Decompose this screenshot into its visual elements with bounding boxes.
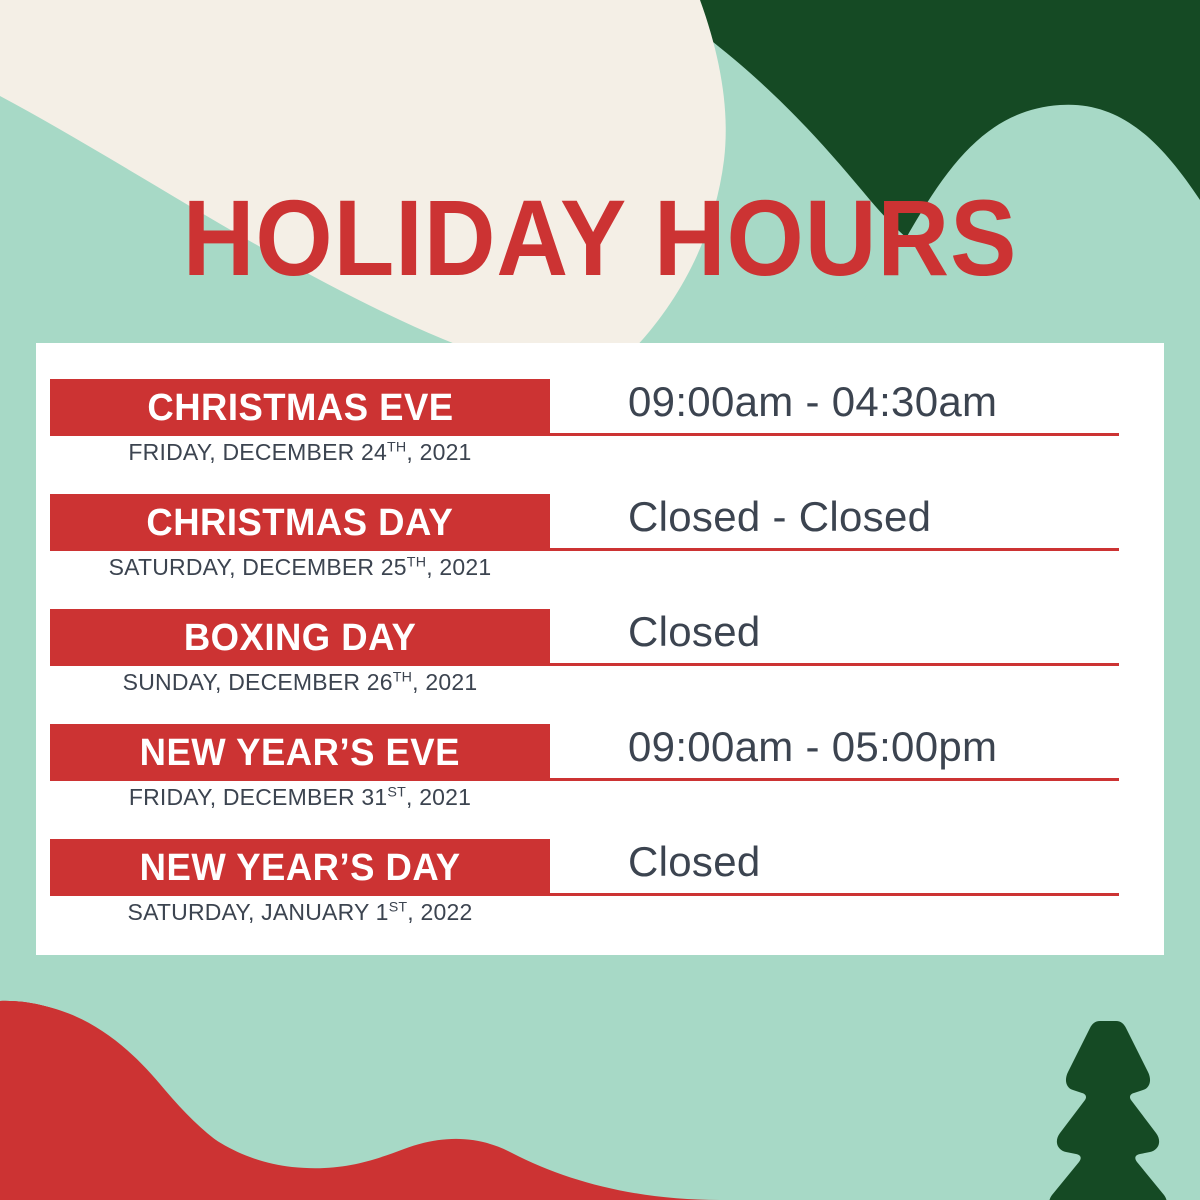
holiday-date-label: SATURDAY, JANUARY 1ST, 2022 xyxy=(50,896,550,928)
holiday-hours-value: 09:00am - 05:00pm xyxy=(628,716,1158,778)
row-rule xyxy=(550,893,1119,896)
holiday-date-label: FRIDAY, DECEMBER 31ST, 2021 xyxy=(50,781,550,813)
holiday-date-label: FRIDAY, DECEMBER 24TH, 2021 xyxy=(50,436,550,468)
holiday-name-banner: CHRISTMAS EVE xyxy=(50,379,550,436)
table-row: CHRISTMAS EVE FRIDAY, DECEMBER 24TH, 202… xyxy=(36,365,1164,480)
holiday-name-banner: NEW YEAR’S DAY xyxy=(50,839,550,896)
holiday-name-label: NEW YEAR’S EVE xyxy=(140,733,460,773)
holiday-date-label: SUNDAY, DECEMBER 26TH, 2021 xyxy=(50,666,550,698)
date-ordinal: TH xyxy=(407,554,426,570)
date-text: SATURDAY, JANUARY 1 xyxy=(128,899,389,925)
row-rule xyxy=(550,663,1119,666)
date-text: SUNDAY, DECEMBER 26 xyxy=(123,669,393,695)
holiday-hours-value: Closed - Closed xyxy=(628,486,1158,548)
holiday-hours-poster: HOLIDAY HOURS CHRISTMAS EVE FRIDAY, DECE… xyxy=(0,0,1200,1200)
date-text: SATURDAY, DECEMBER 25 xyxy=(109,554,407,580)
holiday-hours-value: Closed xyxy=(628,831,1158,893)
row-rule xyxy=(550,778,1119,781)
date-ordinal: TH xyxy=(387,439,406,455)
table-row: CHRISTMAS DAY SATURDAY, DECEMBER 25TH, 2… xyxy=(36,480,1164,595)
table-row: NEW YEAR’S DAY SATURDAY, JANUARY 1ST, 20… xyxy=(36,825,1164,940)
holiday-hours-value: 09:00am - 04:30am xyxy=(628,371,1158,433)
date-year: , 2021 xyxy=(406,439,471,465)
holiday-name-label: CHRISTMAS DAY xyxy=(147,503,454,543)
holiday-name-banner: NEW YEAR’S EVE xyxy=(50,724,550,781)
page-title: HOLIDAY HOURS xyxy=(48,183,1152,293)
table-row: BOXING DAY SUNDAY, DECEMBER 26TH, 2021 C… xyxy=(36,595,1164,710)
date-ordinal: ST xyxy=(387,784,406,800)
row-rule xyxy=(550,433,1119,436)
date-text: FRIDAY, DECEMBER 31 xyxy=(129,784,388,810)
schedule-card: CHRISTMAS EVE FRIDAY, DECEMBER 24TH, 202… xyxy=(36,343,1164,955)
date-year: , 2021 xyxy=(426,554,491,580)
holiday-name-label: NEW YEAR’S DAY xyxy=(140,848,461,888)
date-year: , 2021 xyxy=(412,669,477,695)
holiday-name-banner: CHRISTMAS DAY xyxy=(50,494,550,551)
date-ordinal: ST xyxy=(389,899,408,915)
holiday-hours-value: Closed xyxy=(628,601,1158,663)
date-ordinal: TH xyxy=(393,669,412,685)
holiday-name-label: CHRISTMAS EVE xyxy=(147,388,453,428)
date-text: FRIDAY, DECEMBER 24 xyxy=(128,439,387,465)
date-year: , 2022 xyxy=(407,899,472,925)
table-row: NEW YEAR’S EVE FRIDAY, DECEMBER 31ST, 20… xyxy=(36,710,1164,825)
holiday-name-label: BOXING DAY xyxy=(184,618,417,658)
row-rule xyxy=(550,548,1119,551)
holiday-name-banner: BOXING DAY xyxy=(50,609,550,666)
date-year: , 2021 xyxy=(406,784,471,810)
holiday-date-label: SATURDAY, DECEMBER 25TH, 2021 xyxy=(50,551,550,583)
schedule-rows: CHRISTMAS EVE FRIDAY, DECEMBER 24TH, 202… xyxy=(36,343,1164,955)
